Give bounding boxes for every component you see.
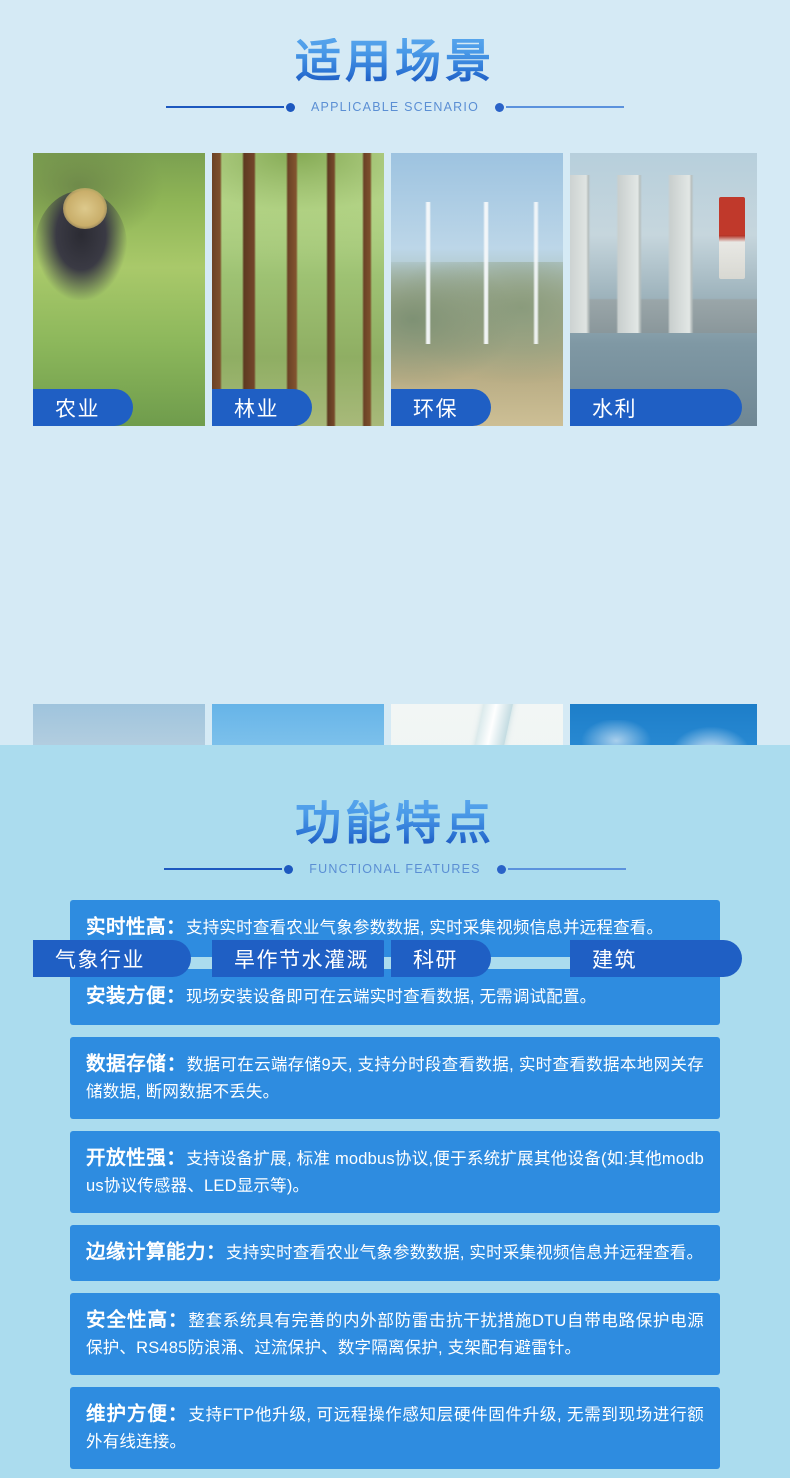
tile-art-environment	[391, 153, 563, 426]
features-heading-block: 功能特点 FUNCTIONAL FEATURES	[0, 800, 790, 876]
scenario-tile-label-construction: 建筑	[570, 940, 742, 977]
scenario-tile-agriculture[interactable]: 农业	[33, 153, 205, 426]
deco-dot-right-icon	[495, 103, 504, 112]
feature-card-security: 安全性高：整套系统具有完善的内外部防雷击抗干扰措施DTU自带电路保护电源保护、R…	[70, 1293, 720, 1375]
tile-art-forestry	[212, 153, 384, 426]
feature-term: 安装方便：	[86, 985, 186, 1007]
section-applicable-scenario: 适用场景 APPLICABLE SCENARIO 农业	[0, 0, 790, 745]
features-title-cn: 功能特点	[0, 800, 790, 846]
scenario-heading-block: 适用场景 APPLICABLE SCENARIO	[0, 38, 790, 114]
feature-term: 维护方便：	[86, 1403, 188, 1425]
scenario-title-cn: 适用场景	[0, 38, 790, 84]
deco-line-left-icon	[166, 106, 284, 108]
feature-term: 数据存储：	[86, 1053, 187, 1075]
feature-body: 支持实时查看农业气象参数数据, 实时采集视频信息并远程查看。	[186, 919, 663, 937]
tile-art-agriculture	[33, 153, 205, 426]
feature-body: 现场安装设备即可在云端实时查看数据, 无需调试配置。	[186, 988, 596, 1006]
feature-term: 实时性高：	[86, 916, 186, 938]
tile-art-water-conservancy	[570, 153, 757, 426]
page-root: 适用场景 APPLICABLE SCENARIO 农业	[0, 0, 790, 1478]
deco-line-right-icon	[506, 106, 624, 108]
scenario-tile-label-research: 科研	[391, 940, 491, 977]
deco-dot-right-icon	[497, 865, 506, 874]
scenario-tile-label-water-conservancy: 水利	[570, 389, 742, 426]
feature-term: 安全性高：	[86, 1309, 188, 1331]
deco-left	[166, 103, 295, 112]
feature-term: 边缘计算能力：	[86, 1241, 226, 1263]
feature-card-openness: 开放性强：支持设备扩展, 标准 modbus协议,便于系统扩展其他设备(如:其他…	[70, 1131, 720, 1213]
feature-term: 开放性强：	[86, 1147, 186, 1169]
feature-card-maintenance: 维护方便：支持FTP他升级, 可远程操作感知层硬件固件升级, 无需到现场进行额外…	[70, 1387, 720, 1469]
section-functional-features: 功能特点 FUNCTIONAL FEATURES 实时性高：支持实时查看农业气象…	[0, 745, 790, 1478]
deco-dot-left-icon	[284, 865, 293, 874]
scenario-tile-label-forestry: 林业	[212, 389, 312, 426]
feature-card-edge-computing: 边缘计算能力：支持实时查看农业气象参数数据, 实时采集视频信息并远程查看。	[70, 1225, 720, 1282]
scenario-tile-forestry[interactable]: 林业	[212, 153, 384, 426]
scenario-subtitle-row: APPLICABLE SCENARIO	[0, 100, 790, 114]
deco-line-right-icon	[508, 868, 626, 870]
scenario-tile-label-agriculture: 农业	[33, 389, 133, 426]
scenario-tile-label-environment: 环保	[391, 389, 491, 426]
deco-right	[495, 103, 624, 112]
scenario-tile-label-dry-farming-irrigation: 旱作节水灌溉	[212, 940, 384, 977]
scenario-title-en: APPLICABLE SCENARIO	[295, 100, 495, 114]
feature-card-data-storage: 数据存储：数据可在云端存储9天, 支持分时段查看数据, 实时查看数据本地网关存储…	[70, 1037, 720, 1119]
deco-dot-left-icon	[286, 103, 295, 112]
deco-line-left-icon	[164, 868, 282, 870]
deco-right	[497, 865, 626, 874]
feature-body: 支持实时查看农业气象参数数据, 实时采集视频信息并远程查看。	[226, 1244, 703, 1262]
scenario-tile-environment[interactable]: 环保	[391, 153, 563, 426]
scenario-tile-label-meteorology: 气象行业	[33, 940, 191, 977]
scenario-grid-row-1: 农业 林业 环保 水利	[33, 153, 757, 426]
features-title-en: FUNCTIONAL FEATURES	[293, 862, 496, 876]
feature-card-list: 实时性高：支持实时查看农业气象参数数据, 实时采集视频信息并远程查看。 安装方便…	[70, 900, 720, 1478]
scenario-tile-water-conservancy[interactable]: 水利	[570, 153, 757, 426]
features-subtitle-row: FUNCTIONAL FEATURES	[0, 862, 790, 876]
deco-left	[164, 865, 293, 874]
feature-card-easy-install: 安装方便：现场安装设备即可在云端实时查看数据, 无需调试配置。	[70, 969, 720, 1026]
